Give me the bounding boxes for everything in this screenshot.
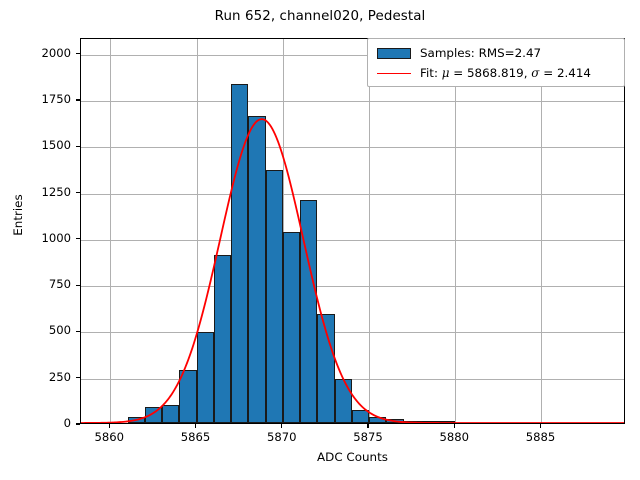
legend-fit-prefix: Fit: bbox=[420, 66, 442, 80]
x-tick-mark bbox=[367, 424, 368, 428]
legend-label-samples: Samples: RMS=2.47 bbox=[420, 46, 541, 60]
y-tick-label: 1500 bbox=[5, 138, 71, 152]
y-tick-label: 250 bbox=[5, 370, 71, 384]
histogram-bar bbox=[162, 405, 179, 424]
fit-curve bbox=[81, 39, 624, 423]
y-tick-label: 1750 bbox=[5, 92, 71, 106]
y-tick-mark bbox=[76, 285, 80, 286]
legend-item-samples: Samples: RMS=2.47 bbox=[375, 43, 617, 63]
y-tick-label: 500 bbox=[5, 323, 71, 337]
histogram-bar bbox=[404, 421, 421, 423]
gridline-horizontal bbox=[81, 332, 624, 333]
gridline-vertical bbox=[369, 39, 370, 423]
y-tick-label: 0 bbox=[5, 416, 71, 430]
y-tick-mark bbox=[76, 146, 80, 147]
gridline-vertical bbox=[455, 39, 456, 423]
gridline-vertical bbox=[541, 39, 542, 423]
histogram-bar bbox=[197, 332, 214, 423]
legend-fit-mu-value: = 5868.819, bbox=[449, 66, 531, 80]
y-tick-mark bbox=[76, 99, 80, 100]
chart-figure: Run 652, channel020, Pedestal 0250500750… bbox=[0, 0, 640, 480]
legend-label-fit: Fit: μ = 5868.819, σ = 2.414 bbox=[420, 66, 591, 80]
fit-curve-path bbox=[81, 119, 624, 423]
histogram-bar bbox=[421, 421, 438, 423]
histogram-bar bbox=[248, 116, 265, 423]
y-tick-mark bbox=[76, 53, 80, 54]
histogram-bar bbox=[438, 421, 455, 423]
legend-swatch-samples-icon bbox=[377, 48, 411, 59]
x-tick-label: 5860 bbox=[74, 430, 144, 444]
x-tick-mark bbox=[281, 424, 282, 428]
y-axis-label: Entries bbox=[11, 165, 25, 265]
y-tick-mark bbox=[76, 331, 80, 332]
histogram-bar bbox=[369, 417, 386, 423]
chart-title: Run 652, channel020, Pedestal bbox=[0, 9, 640, 24]
y-tick-label: 750 bbox=[5, 277, 71, 291]
histogram-bar bbox=[317, 314, 334, 423]
x-tick-label: 5865 bbox=[161, 430, 231, 444]
x-tick-label: 5885 bbox=[505, 430, 575, 444]
histogram-bar bbox=[352, 410, 369, 423]
gridline-horizontal bbox=[81, 194, 624, 195]
legend-swatch-fit-icon bbox=[377, 73, 411, 74]
gridline-horizontal bbox=[81, 101, 624, 102]
legend-fit-sigma-value: = 2.414 bbox=[539, 66, 591, 80]
y-tick-mark bbox=[76, 377, 80, 378]
gridline-horizontal bbox=[81, 379, 624, 380]
plot-area bbox=[80, 38, 625, 424]
x-tick-label: 5875 bbox=[333, 430, 403, 444]
y-tick-mark bbox=[76, 238, 80, 239]
histogram-bar bbox=[283, 232, 300, 423]
histogram-bar bbox=[231, 84, 248, 423]
x-tick-label: 5870 bbox=[247, 430, 317, 444]
y-tick-mark bbox=[76, 192, 80, 193]
x-tick-mark bbox=[454, 424, 455, 428]
legend-item-fit: Fit: μ = 5868.819, σ = 2.414 bbox=[375, 63, 617, 83]
histogram-bar bbox=[145, 407, 162, 423]
histogram-bar bbox=[300, 200, 317, 423]
gridline-horizontal bbox=[81, 147, 624, 148]
histogram-bar bbox=[214, 255, 231, 423]
histogram-bar bbox=[128, 417, 145, 423]
y-tick-mark bbox=[76, 423, 80, 424]
histogram-bar bbox=[179, 370, 196, 423]
x-tick-mark bbox=[195, 424, 196, 428]
y-tick-label: 2000 bbox=[5, 46, 71, 60]
x-tick-mark bbox=[540, 424, 541, 428]
gridline-horizontal bbox=[81, 286, 624, 287]
x-tick-mark bbox=[109, 424, 110, 428]
histogram-bar bbox=[266, 170, 283, 423]
gridline-horizontal bbox=[81, 240, 624, 241]
gridline-vertical bbox=[110, 39, 111, 423]
histogram-bar bbox=[386, 419, 403, 423]
chart-legend: Samples: RMS=2.47 Fit: μ = 5868.819, σ =… bbox=[367, 38, 625, 87]
histogram-bar bbox=[335, 379, 352, 423]
x-axis-label: ADC Counts bbox=[80, 450, 625, 464]
x-tick-label: 5880 bbox=[419, 430, 489, 444]
